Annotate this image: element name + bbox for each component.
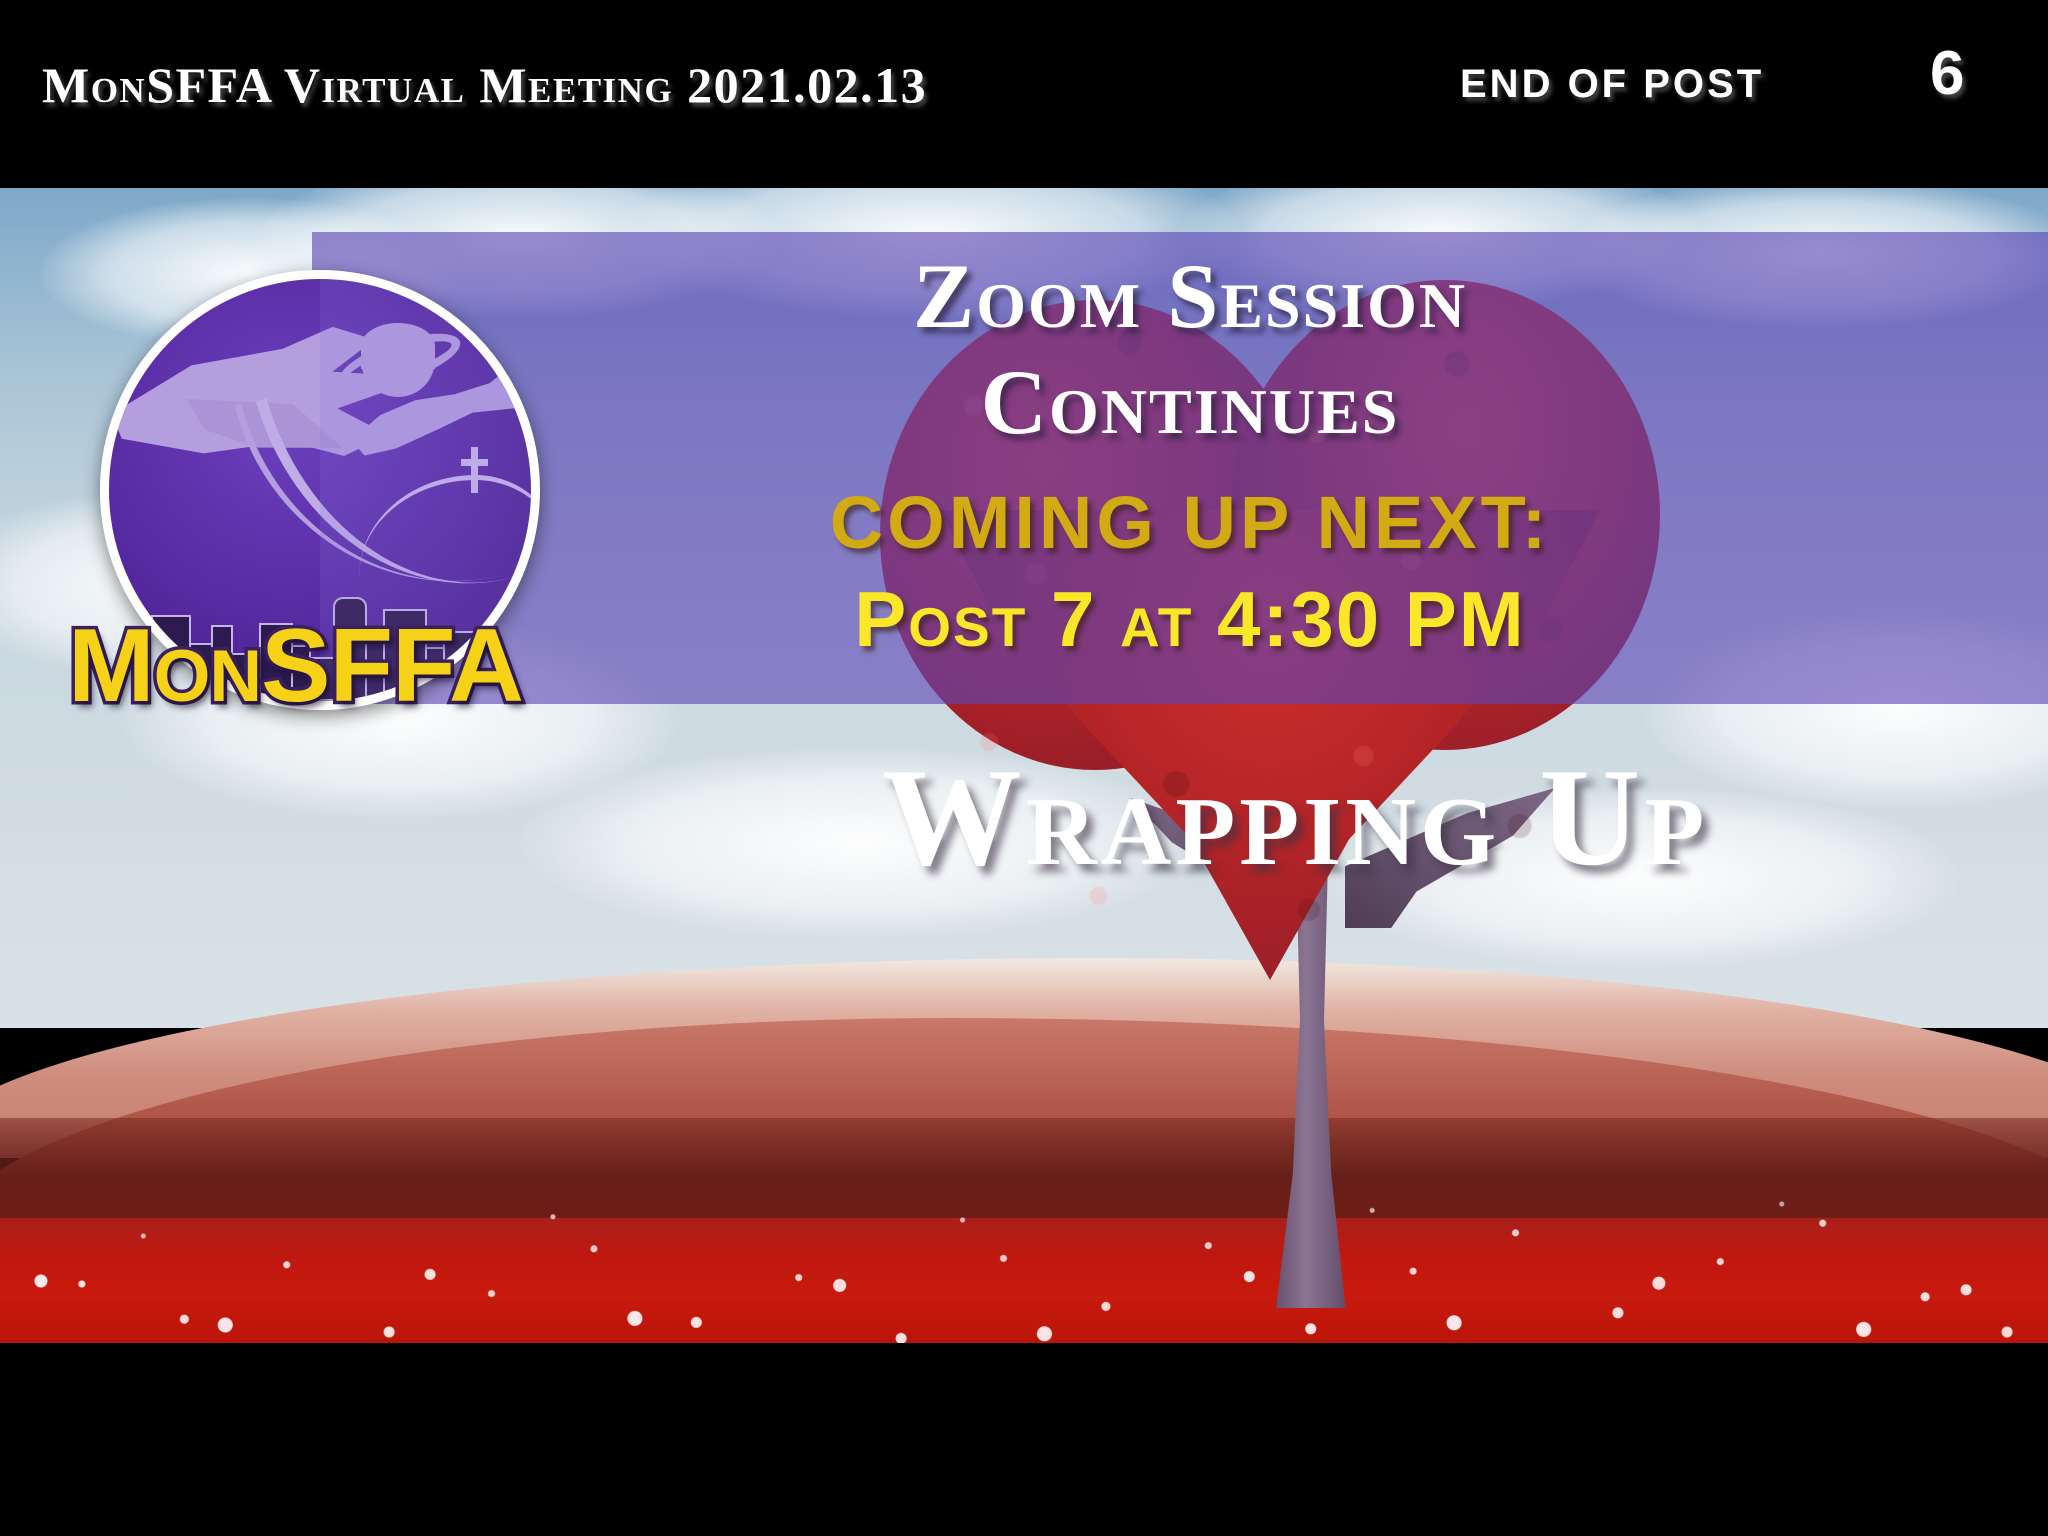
monsffa-logo: MonSFFA bbox=[60, 218, 560, 778]
next-post-time: Post 7 at 4:30 PM bbox=[560, 580, 1820, 658]
coming-up-next-label: Coming Up Next: bbox=[560, 486, 1820, 560]
headline-line-1: Zoom Session bbox=[560, 250, 1820, 342]
slide-header-bar: MonSFFA Virtual Meeting 2021.02.13 End o… bbox=[0, 0, 2048, 188]
meeting-title: MonSFFA Virtual Meeting 2021.02.13 bbox=[42, 56, 927, 114]
logo-wordmark: MonSFFA bbox=[68, 614, 568, 718]
headline-line-2: Continues bbox=[560, 356, 1820, 448]
background-photo: Zoom Session Continues Coming Up Next: P… bbox=[0, 188, 2048, 1343]
slide-canvas: MonSFFA Virtual Meeting 2021.02.13 End o… bbox=[0, 0, 2048, 1536]
slide-footer-bar bbox=[0, 1343, 2048, 1536]
section-title: Wrapping Up bbox=[560, 748, 2030, 888]
post-number-badge: 6 bbox=[1930, 38, 1964, 109]
end-of-post-label: End of Post bbox=[1460, 62, 1764, 107]
